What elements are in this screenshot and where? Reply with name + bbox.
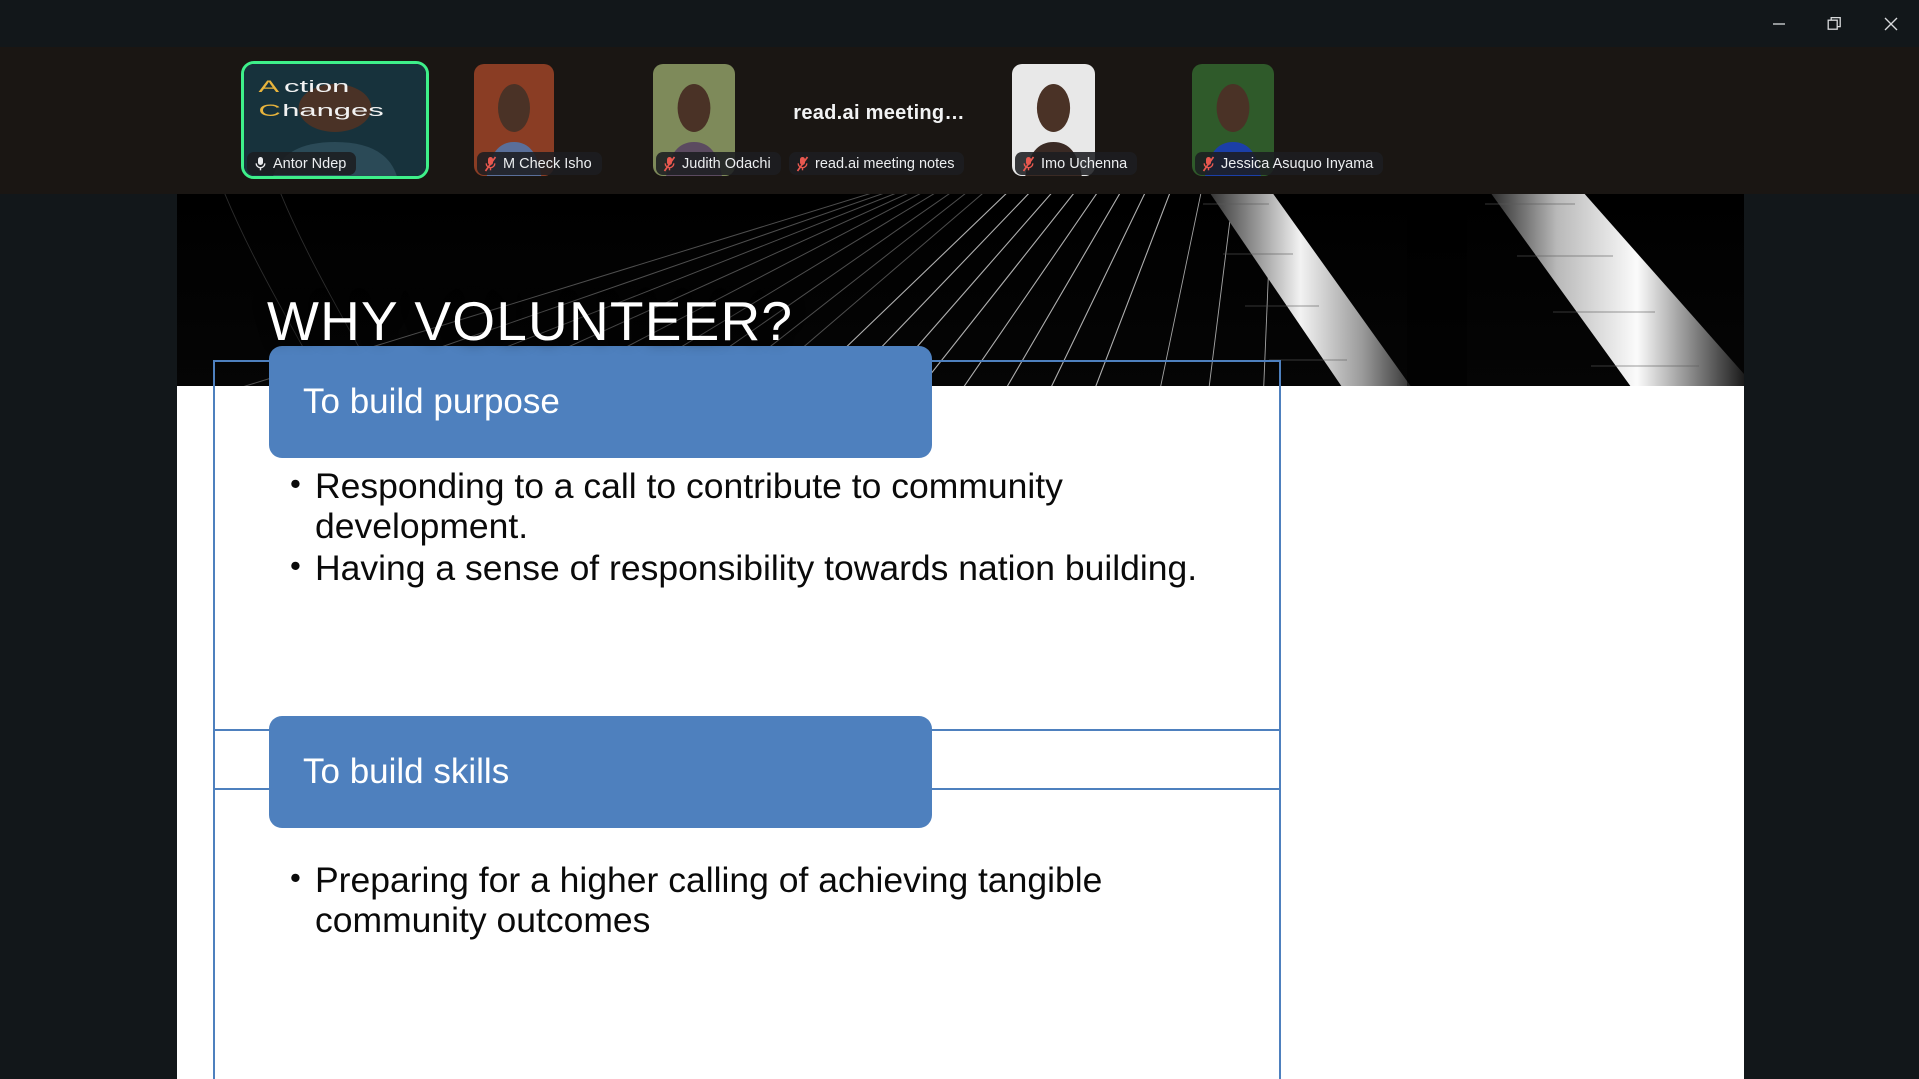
- bullet-text: Preparing for a higher calling of achiev…: [315, 860, 1102, 940]
- card-heading-1: To build purpose: [269, 346, 932, 458]
- card-heading-1-text: To build purpose: [303, 382, 560, 422]
- participant-name-chip: read.ai meeting notes: [789, 152, 964, 175]
- participant-name-chip: M Check Isho: [477, 152, 602, 175]
- participant-name-chip: Antor Ndep: [247, 152, 356, 175]
- list-item: Preparing for a higher calling of achiev…: [288, 860, 1188, 940]
- bullet-text: Having a sense of responsibility towards…: [315, 548, 1197, 588]
- bullet-text: Responding to a call to contribute to co…: [315, 466, 1063, 546]
- participant-name-chip: Imo Uchenna: [1015, 152, 1137, 175]
- participant-name-label: Judith Odachi: [682, 156, 771, 172]
- svg-text:ction: ction: [284, 77, 349, 96]
- svg-text:C: C: [259, 101, 281, 120]
- minimize-icon: [1772, 17, 1786, 31]
- mic-muted-icon: [796, 156, 809, 172]
- participant-name-label: M Check Isho: [503, 156, 592, 172]
- restore-icon: [1827, 16, 1843, 32]
- participant-name-chip: Jessica Asuquo Inyama: [1195, 152, 1383, 175]
- page-title: WHY VOLUNTEER?: [267, 289, 793, 353]
- window-title-bar: [0, 0, 1919, 47]
- card-heading-2: To build skills: [269, 716, 932, 828]
- mic-icon: [254, 156, 267, 172]
- mic-muted-icon: [1022, 156, 1035, 172]
- restore-button[interactable]: [1807, 0, 1863, 47]
- mic-muted-icon: [1202, 156, 1215, 172]
- card-body-2: Preparing for a higher calling of achiev…: [288, 860, 1188, 942]
- shared-slide[interactable]: WHY VOLUNTEER? To build purpose Respondi…: [177, 194, 1744, 1079]
- mic-muted-icon: [484, 156, 497, 172]
- participant-name-label: read.ai meeting notes: [815, 156, 954, 172]
- minimize-button[interactable]: [1751, 0, 1807, 47]
- participant-filmstrip: ActionChangesAntor NdepM Check IshoJudit…: [0, 47, 1919, 194]
- svg-text:A: A: [259, 77, 280, 96]
- svg-text:hanges: hanges: [282, 101, 383, 120]
- participant-name-label: Jessica Asuquo Inyama: [1221, 156, 1373, 172]
- participant-name-chip: Judith Odachi: [656, 152, 781, 175]
- participant-display-name: read.ai meeting…: [786, 102, 972, 125]
- card-body-1: Responding to a call to contribute to co…: [288, 466, 1228, 590]
- mic-muted-icon: [663, 156, 676, 172]
- list-item: Responding to a call to contribute to co…: [288, 466, 1228, 546]
- close-button[interactable]: [1863, 0, 1919, 47]
- participant-name-label: Imo Uchenna: [1041, 156, 1127, 172]
- list-item: Having a sense of responsibility towards…: [288, 548, 1228, 588]
- participant-name-label: Antor Ndep: [273, 156, 346, 172]
- close-icon: [1883, 16, 1899, 32]
- card-heading-2-text: To build skills: [303, 752, 509, 792]
